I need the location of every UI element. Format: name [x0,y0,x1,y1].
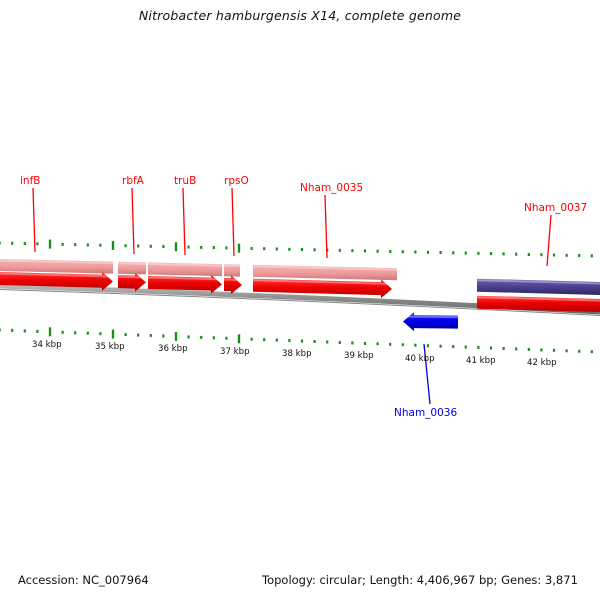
ruler-minor-tick [314,340,316,343]
ruler-minor-tick [225,337,227,340]
ruler-tick-label: 36 kbp [158,344,188,354]
gene-label-infB[interactable]: infB [20,175,40,187]
ruler-minor-tick [339,249,341,252]
ruler-minor-tick [351,341,353,344]
ruler-minor-tick [477,346,479,349]
ruler-minor-tick [36,330,38,333]
ruler-minor-tick [74,331,76,334]
ruler-minor-tick [162,335,164,338]
ruler-major-tick [238,244,240,253]
genome-map-canvas[interactable] [0,0,600,600]
ruler-minor-tick [540,253,542,256]
ruler-minor-tick [553,254,555,257]
ruler-minor-tick [251,247,253,250]
ruler-minor-tick [326,341,328,344]
ruler-major-tick [175,242,177,251]
ruler-minor-tick [74,243,76,246]
ruler-minor-tick [276,248,278,251]
gene-rpsO[interactable] [224,275,242,294]
ruler-minor-tick [11,242,13,245]
ruler-minor-tick [188,335,190,338]
ruler-tick-label: 39 kbp [344,351,374,361]
ruler-tick-label: 41 kbp [466,356,496,366]
ruler-minor-tick [465,346,467,349]
ruler-minor-tick [263,338,265,341]
ruler-minor-tick [0,329,1,332]
region-2-highlight [118,263,146,264]
ruler-minor-tick [452,345,454,348]
ruler-minor-tick [213,246,215,249]
ruler-tick-label: 37 kbp [220,347,250,357]
ruler-minor-tick [477,252,479,255]
ruler-minor-tick [125,333,127,336]
ruler-minor-tick [377,250,379,253]
ruler-minor-tick [553,349,555,352]
ruler-tick-label: 38 kbp [282,349,312,359]
gene-label-Nham_0036[interactable]: Nham_0036 [394,407,457,419]
ruler-minor-tick [200,336,202,339]
ruler-minor-tick [99,332,101,335]
ruler-minor-tick [62,331,64,334]
ruler-tick-label: 34 kbp [32,340,62,350]
ruler-minor-tick [540,348,542,351]
ruler-minor-tick [440,345,442,348]
ruler-minor-tick [137,334,139,337]
genome-viewer: Nitrobacter hamburgensis X14, complete g… [0,0,600,600]
ruler-minor-tick [276,339,278,342]
ruler-ticks-top [0,240,593,258]
ruler-tick-label: 35 kbp [95,342,125,352]
ruler-minor-tick [528,348,530,351]
gene-rbfA-highlight [118,277,146,278]
ruler-minor-tick [528,253,530,256]
ruler-minor-tick [591,350,593,353]
ruler-minor-tick [99,244,101,247]
ruler-minor-tick [364,342,366,345]
gene-Nham_0036-highlight [403,317,458,318]
leader-line-Nham_0035 [325,195,327,258]
ruler-minor-tick [578,254,580,257]
ruler-minor-tick [24,242,26,245]
ruler-minor-tick [364,249,366,252]
right-gene-pair[interactable] [477,279,600,312]
ruler-major-tick [238,334,240,343]
ruler-major-tick [49,240,51,249]
accession-text: Accession: NC_007964 [18,573,149,587]
ruler-minor-tick [465,252,467,255]
ruler-minor-tick [490,252,492,255]
gene-label-Nham_0037[interactable]: Nham_0037 [524,202,587,214]
ruler-minor-tick [301,340,303,343]
ruler-minor-tick [288,248,290,251]
ruler-minor-tick [213,336,215,339]
ruler-minor-tick [36,242,38,245]
ruler-minor-tick [427,344,429,347]
gene-label-truB[interactable]: truB [174,175,196,187]
ruler-minor-tick [125,244,127,247]
leader-line-Nham_0037 [547,215,551,266]
ruler-major-tick [112,330,114,339]
ruler-major-tick [49,327,51,336]
ruler-minor-tick [200,246,202,249]
ruler-minor-tick [0,242,1,245]
ruler-minor-tick [11,329,13,332]
ruler-minor-tick [288,339,290,342]
ruler-minor-tick [452,251,454,254]
ruler-major-tick [112,241,114,250]
ruler-minor-tick [62,243,64,246]
gene-label-Nham_0035[interactable]: Nham_0035 [300,182,363,194]
ruler-minor-tick [566,254,568,257]
ruler-minor-tick [301,248,303,251]
leader-line-truB [183,188,185,255]
ruler-minor-tick [578,350,580,353]
ruler-tick-label: 42 kbp [527,358,557,368]
ruler-minor-tick [87,332,89,335]
ruler-minor-tick [515,253,517,256]
ruler-minor-tick [402,250,404,253]
gene-Nham_0036[interactable] [403,312,458,331]
leader-line-rbfA [132,188,134,254]
ruler-minor-tick [314,248,316,251]
ruler-minor-tick [339,341,341,344]
ruler-major-tick [175,332,177,341]
ruler-minor-tick [503,347,505,350]
ruler-minor-tick [566,349,568,352]
ruler-minor-tick [24,329,26,332]
reverse-gene-arrows[interactable] [403,312,458,331]
ruler-minor-tick [389,250,391,253]
ruler-minor-tick [87,243,89,246]
ruler-minor-tick [137,245,139,248]
gene-label-rbfA[interactable]: rbfA [122,175,144,187]
ruler-tick-label: 40 kbp [405,354,435,364]
gene-label-rpsO[interactable]: rpsO [224,175,249,187]
ruler-minor-tick [150,245,152,248]
genome-summary-text: Topology: circular; Length: 4,406,967 bp… [262,573,578,587]
ruler-minor-tick [188,246,190,249]
ruler-minor-tick [414,344,416,347]
ruler-minor-tick [351,249,353,252]
ruler-minor-tick [503,252,505,255]
ruler-minor-tick [263,247,265,250]
ruler-minor-tick [389,343,391,346]
ruler-minor-tick [377,342,379,345]
leader-line-infB [33,188,35,252]
leader-line-rpsO [232,188,234,256]
ruler-minor-tick [402,343,404,346]
ruler-minor-tick [251,338,253,341]
ruler-minor-tick [162,245,164,248]
ruler-minor-tick [440,251,442,254]
ruler-minor-tick [515,347,517,350]
ruler-minor-tick [414,251,416,254]
ruler-minor-tick [150,334,152,337]
ruler-minor-tick [591,254,593,257]
ruler-minor-tick [490,347,492,350]
ruler-minor-tick [225,246,227,249]
ruler-minor-tick [427,251,429,254]
